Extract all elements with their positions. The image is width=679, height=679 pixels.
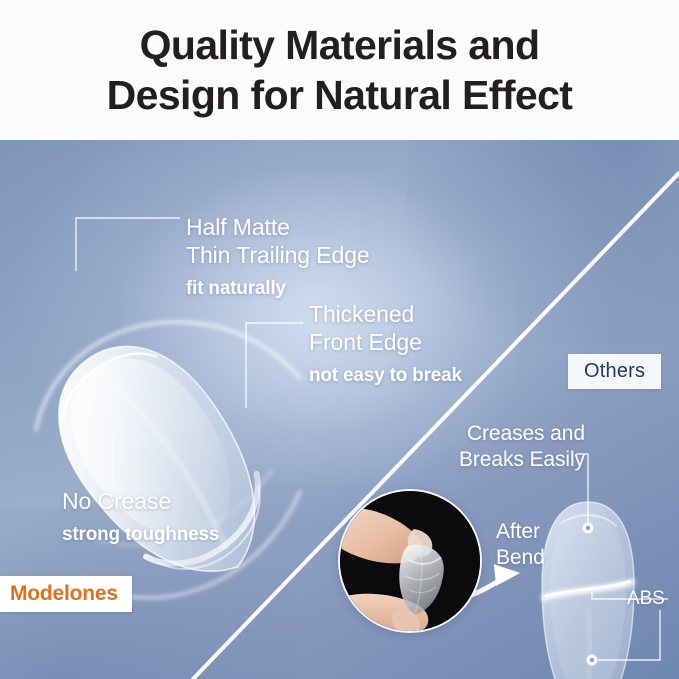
annotation-no-crease-line1: No Crease [62, 487, 219, 515]
leader-half-matte [76, 218, 180, 271]
marker-dots [583, 523, 598, 666]
leader-thickened [246, 323, 303, 408]
page-title-line1: Quality Materials and [140, 20, 540, 70]
badge-others-label: Others [584, 360, 645, 383]
annotation-creases-line2: Breaks Easily [459, 447, 585, 473]
annotation-creases-breaks: Creases and Breaks Easily [459, 421, 585, 473]
annotation-half-matte: Half Matte Thin Trailing Edge fit natura… [186, 213, 370, 302]
annotation-abs: ABS [627, 586, 665, 612]
leader-abs-lower [598, 610, 660, 660]
annotation-after-bend-line1: After [496, 519, 545, 545]
annotation-after-bend: After Bend [496, 519, 545, 571]
annotation-no-crease: No Crease strong toughness [62, 487, 219, 548]
annotation-thickened-line2: Front Edge [309, 328, 462, 356]
badge-modelones: Modelones [0, 576, 132, 612]
comparison-panel: Half Matte Thin Trailing Edge fit natura… [0, 140, 679, 679]
annotation-half-matte-sub: fit naturally [186, 276, 370, 302]
header-banner: Quality Materials and Design for Natural… [0, 0, 679, 140]
annotation-thickened-line1: Thickened [309, 300, 462, 328]
badge-modelones-label: Modelones [10, 582, 118, 606]
annotation-no-crease-sub: strong toughness [62, 522, 219, 548]
annotation-half-matte-line1: Half Matte [186, 213, 370, 241]
badge-others: Others [568, 354, 661, 389]
annotation-thickened-sub: not easy to break [309, 363, 462, 389]
annotation-abs-line1: ABS [627, 586, 665, 612]
annotation-half-matte-line2: Thin Trailing Edge [186, 241, 370, 269]
annotation-creases-line1: Creases and [459, 421, 585, 447]
leader-abs [592, 592, 625, 599]
annotation-thickened-front-edge: Thickened Front Edge not easy to break [309, 300, 462, 389]
product-infographic: Quality Materials and Design for Natural… [0, 0, 679, 679]
annotation-after-bend-line2: Bend [496, 545, 545, 571]
photo-inset-creased-tip [340, 491, 480, 631]
page-title-line2: Design for Natural Effect [107, 70, 573, 120]
